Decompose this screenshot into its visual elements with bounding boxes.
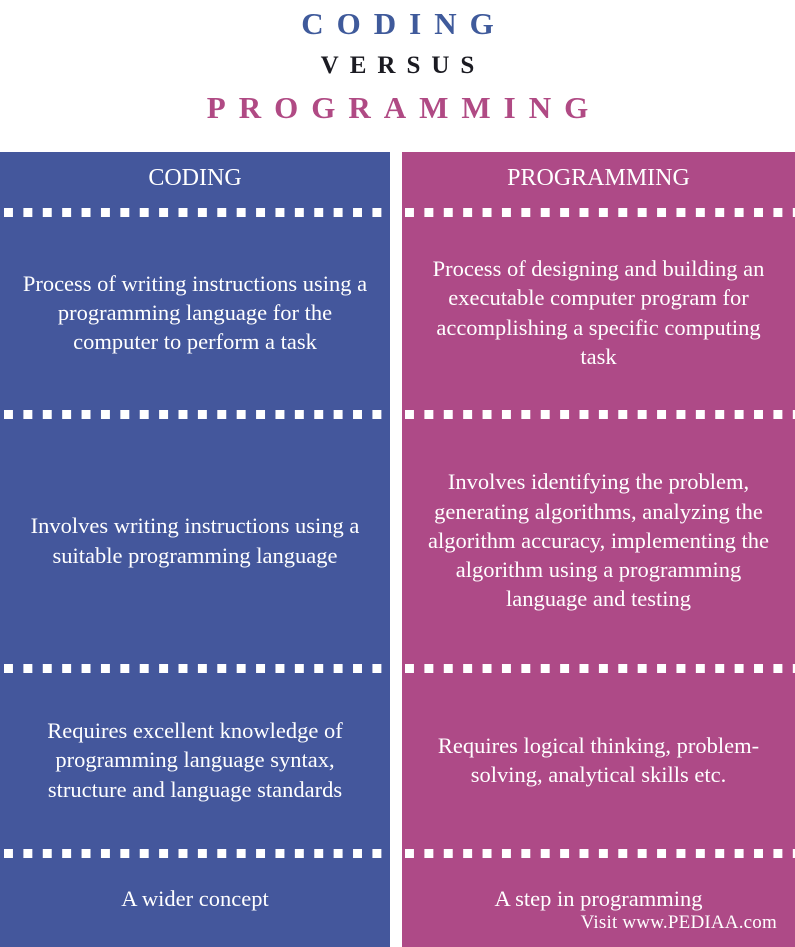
title-line-versus: VERSUS [0,53,795,78]
coding-cell-row-2-text: Involves writing instructions using a su… [18,511,372,570]
programming-header-label: PROGRAMMING [420,163,777,194]
dashed-separator [402,208,795,217]
dashed-separator [402,410,795,419]
programming-cell-row-1: Process of designing and building an exe… [402,217,795,410]
coding-cell-row-4-text: A wider concept [18,884,372,913]
programming-cell-row-4-text: A step in programming [420,884,777,913]
coding-cell-row-3: Requires excellent knowledge of programm… [0,673,390,849]
coding-cell-row-4: A wider concept [0,858,390,947]
programming-cell-row-2: Involves identifying the problem, genera… [402,419,795,664]
programming-cell-row-4: A step in programming Visit www.PEDIAA.c… [402,858,795,947]
coding-cell-row-2: Involves writing instructions using a su… [0,419,390,664]
comparison-table: CODING Process of writing instructions u… [0,152,795,947]
programming-cell-row-2-text: Involves identifying the problem, genera… [420,467,777,613]
dashed-separator [0,410,390,419]
coding-column: CODING Process of writing instructions u… [0,152,390,947]
coding-cell-row-1-text: Process of writing instructions using a … [18,269,372,357]
dashed-separator [402,664,795,673]
title-block: CODING VERSUS PROGRAMMING [0,0,795,123]
dashed-separator [0,664,390,673]
title-line-programming: PROGRAMMING [0,92,795,123]
programming-column: PROGRAMMING Process of designing and bui… [402,152,795,947]
coding-cell-row-1: Process of writing instructions using a … [0,217,390,410]
programming-cell-row-3-text: Requires logical thinking, problem-solvi… [420,731,777,790]
coding-header-label: CODING [18,163,372,194]
programming-cell-row-1-text: Process of designing and building an exe… [420,254,777,371]
dashed-separator [0,208,390,217]
dashed-separator [402,849,795,858]
infographic-page: CODING VERSUS PROGRAMMING CODING Process… [0,0,795,947]
coding-column-header: CODING [0,152,390,208]
coding-cell-row-3-text: Requires excellent knowledge of programm… [18,716,372,804]
programming-cell-row-3: Requires logical thinking, problem-solvi… [402,673,795,849]
programming-column-header: PROGRAMMING [402,152,795,208]
title-line-coding: CODING [0,8,795,39]
column-divider [390,152,402,947]
visit-website-note: Visit www.PEDIAA.com [581,911,777,936]
dashed-separator [0,849,390,858]
